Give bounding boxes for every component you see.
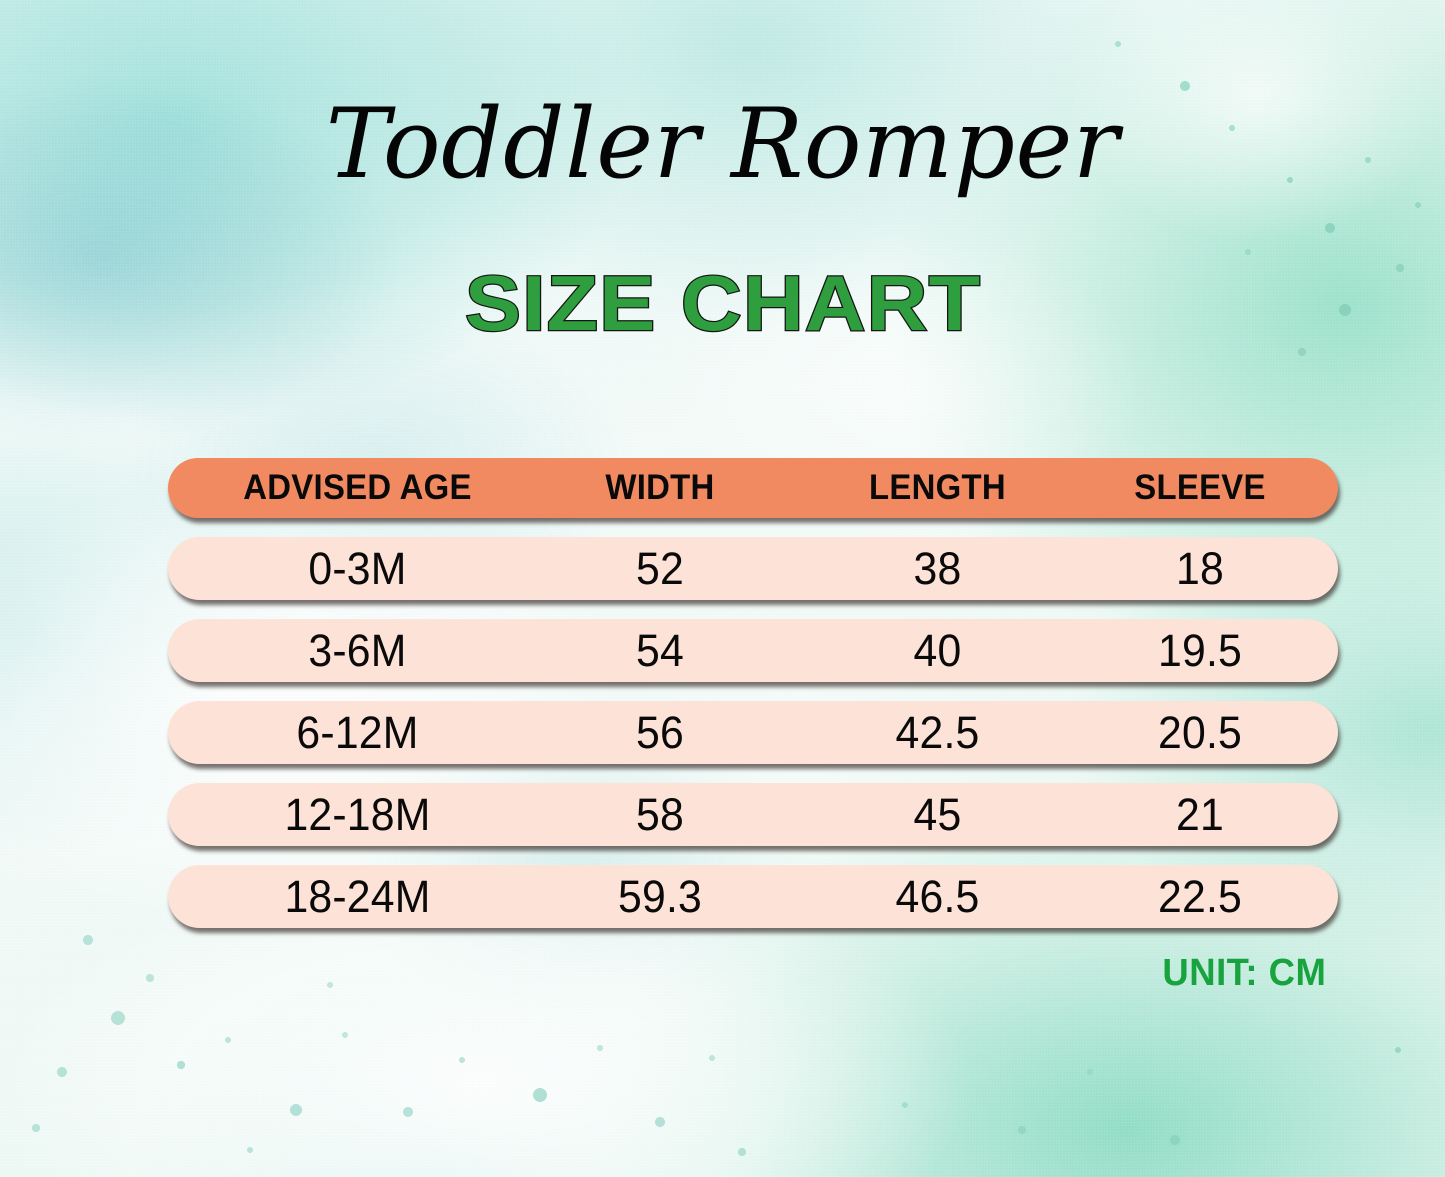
table-header-row: ADVISED AGE WIDTH LENGTH SLEEVE [168, 458, 1338, 518]
column-header-advised-age: ADVISED AGE [200, 468, 515, 508]
cell-advised-age: 0-3M [198, 543, 516, 595]
title-block: Toddler Romper [0, 96, 1445, 192]
cell-width: 59.3 [532, 871, 789, 923]
cell-advised-age: 12-18M [198, 789, 516, 841]
cell-sleeve: 21 [1086, 789, 1314, 841]
cell-length: 40 [802, 625, 1073, 677]
size-chart-canvas: Toddler Romper SIZE CHART ADVISED AGE WI… [0, 0, 1445, 1177]
column-header-length: LENGTH [804, 468, 1072, 508]
subtitle-block: SIZE CHART [0, 264, 1445, 342]
size-chart-table: ADVISED AGE WIDTH LENGTH SLEEVE 0-3M 52 … [168, 458, 1338, 928]
cell-advised-age: 18-24M [198, 871, 516, 923]
table-row: 12-18M 58 45 21 [168, 783, 1338, 846]
cell-width: 56 [532, 707, 789, 759]
unit-note: UNIT: CM [168, 952, 1338, 995]
cell-length: 46.5 [802, 871, 1073, 923]
cell-advised-age: 6-12M [198, 707, 516, 759]
cell-length: 45 [802, 789, 1073, 841]
column-header-width: WIDTH [533, 468, 787, 508]
cell-length: 38 [802, 543, 1073, 595]
cell-advised-age: 3-6M [198, 625, 516, 677]
cell-width: 52 [532, 543, 789, 595]
column-header-sleeve: SLEEVE [1087, 468, 1313, 508]
cell-sleeve: 20.5 [1086, 707, 1314, 759]
table-row: 6-12M 56 42.5 20.5 [168, 701, 1338, 764]
cell-sleeve: 18 [1086, 543, 1314, 595]
cell-width: 58 [532, 789, 789, 841]
unit-label: UNIT: CM [1163, 952, 1327, 995]
cell-width: 54 [532, 625, 789, 677]
table-row: 3-6M 54 40 19.5 [168, 619, 1338, 682]
page-title: Toddler Romper [0, 96, 1445, 192]
table-row: 18-24M 59.3 46.5 22.5 [168, 865, 1338, 928]
subtitle: SIZE CHART [464, 264, 980, 342]
cell-length: 42.5 [802, 707, 1073, 759]
cell-sleeve: 19.5 [1086, 625, 1314, 677]
table-row: 0-3M 52 38 18 [168, 537, 1338, 600]
cell-sleeve: 22.5 [1086, 871, 1314, 923]
